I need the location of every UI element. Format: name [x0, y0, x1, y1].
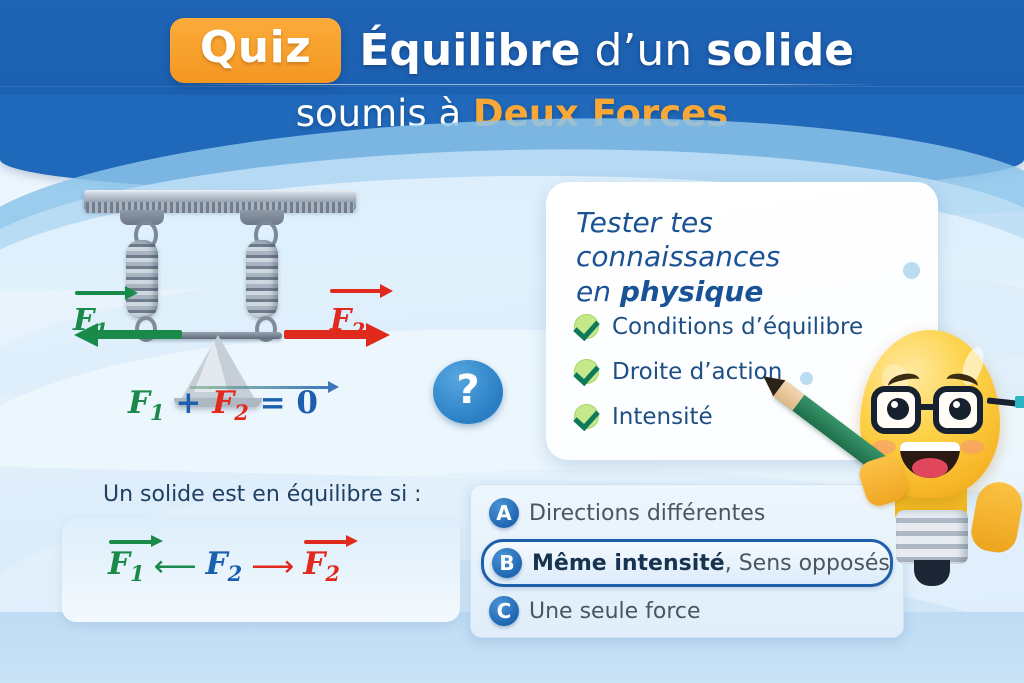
- equation-result: = 0: [249, 385, 318, 421]
- option-label-c: Une seule force: [529, 599, 701, 624]
- checklist-label: Intensité: [612, 404, 713, 430]
- glasses-bridge: [921, 404, 935, 410]
- checklist-label: Droite d’action: [612, 359, 782, 385]
- equation-plus: +: [165, 385, 213, 421]
- spring-right-icon: [246, 240, 278, 318]
- mascot-arm: [968, 479, 1024, 556]
- title-end: solide: [706, 25, 854, 76]
- label-f1: F1: [73, 303, 108, 342]
- answer-option-b[interactable]: B Même intensité, Sens opposés: [481, 539, 893, 587]
- arrow-right-icon: ⟶: [251, 549, 294, 584]
- quiz-infographic: Quiz Équilibre d’un solide soumis à Deux…: [0, 0, 1024, 683]
- condition-formula: F1 ⟵ F2 ⟶ F2: [108, 540, 340, 592]
- glasses-icon: [871, 386, 991, 434]
- option-badge-b: B: [492, 548, 522, 578]
- option-label-a: Directions différentes: [529, 501, 765, 526]
- pupil-highlight-left: [891, 401, 898, 408]
- option-label-b-bold: Même intensité: [532, 551, 725, 576]
- bulb-tip: [914, 560, 950, 586]
- check-icon: [574, 404, 599, 429]
- tongue: [912, 458, 948, 478]
- card-title: Tester tes connaissances en physique: [576, 206, 906, 309]
- answer-option-a[interactable]: A Directions différentes: [481, 491, 893, 535]
- quiz-badge: Quiz: [170, 18, 341, 83]
- label-f2: F2: [330, 303, 365, 342]
- option-badge-c: C: [489, 596, 519, 626]
- title-mid: d’un: [581, 25, 707, 76]
- check-icon: [574, 359, 599, 384]
- checklist-label: Conditions d’équilibre: [612, 314, 863, 340]
- question-mark-icon: ?: [433, 360, 503, 424]
- card-title-line2-lead: en: [576, 275, 620, 308]
- cheek-right: [960, 440, 984, 454]
- decorative-dot: [800, 372, 813, 385]
- formula-f2-a: F2: [206, 546, 243, 586]
- formula-f2-b: F2: [303, 546, 340, 586]
- pupil-left: [887, 398, 909, 420]
- title-divider: [188, 84, 878, 85]
- equation-f1: F1: [128, 385, 165, 421]
- equilibrium-equation: F1 + F2 = 0: [128, 385, 318, 425]
- pupil-highlight-right: [953, 401, 960, 408]
- page-title: Équilibre d’un solide: [359, 25, 854, 76]
- title-accent: Équilibre: [359, 25, 580, 76]
- teeth: [900, 442, 960, 451]
- question-bubble[interactable]: ?: [433, 360, 503, 424]
- bulb-screw-base: [896, 510, 968, 564]
- check-icon: [574, 314, 599, 339]
- spring-left-icon: [126, 240, 158, 318]
- option-badge-a: A: [489, 498, 519, 528]
- option-label-b: Même intensité, Sens opposés: [532, 551, 890, 576]
- pupil-right: [949, 398, 971, 420]
- card-title-line2-bold: physique: [620, 275, 763, 308]
- title-row: Quiz Équilibre d’un solide: [0, 18, 1024, 83]
- arrow-left-icon: ⟵: [154, 549, 197, 584]
- formula-f1: F1: [108, 546, 145, 586]
- equation-f2: F2: [212, 385, 249, 421]
- header-banner: Quiz Équilibre d’un solide soumis à Deux…: [0, 0, 1024, 196]
- glasses-temple-tip: [1015, 396, 1024, 408]
- lightbulb-mascot: [838, 330, 1024, 620]
- card-title-line1: Tester tes connaissances: [576, 206, 780, 273]
- answer-option-c[interactable]: C Une seule force: [481, 589, 893, 633]
- decorative-dot: [903, 262, 920, 279]
- condition-title: Un solide est en équilibre si :: [103, 482, 422, 507]
